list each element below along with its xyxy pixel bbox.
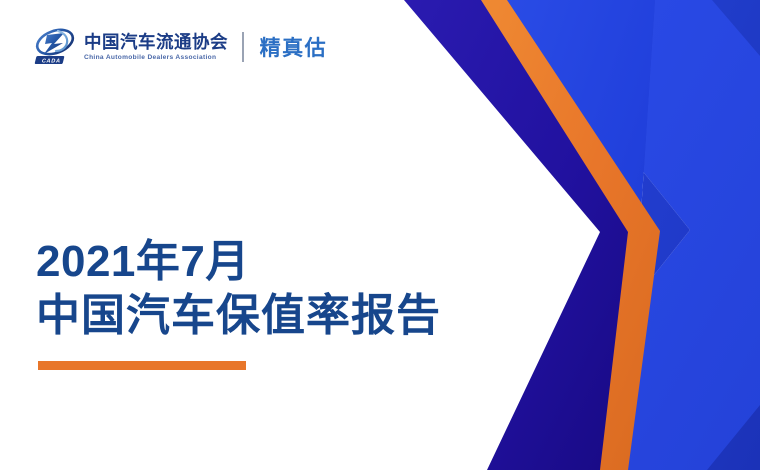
- band-blue-mid: [498, 0, 690, 470]
- svg-text:CADA: CADA: [41, 58, 61, 64]
- association-name-cn: 中国汽车流通协会: [84, 32, 228, 52]
- band-blue-outer: [498, 0, 760, 470]
- title-period: 2021年7月: [36, 236, 506, 287]
- title-report-name: 中国汽车保值率报告: [36, 289, 506, 343]
- band-navy: [404, 0, 628, 470]
- logo-lockup: CADA 中国汽车流通协会 China Automobile Dealers A…: [34, 24, 327, 70]
- band-blue-inner: [498, 0, 655, 470]
- association-name-en: China Automobile Dealers Association: [84, 54, 228, 62]
- cada-swoosh-logo-icon: CADA: [34, 26, 78, 68]
- band-blue-far: [540, 0, 760, 470]
- cover-title-block: 2021年7月 中国汽车保值率报告: [36, 236, 506, 370]
- report-cover-slide: CADA 中国汽车流通协会 China Automobile Dealers A…: [0, 0, 760, 470]
- title-underline-rule: [38, 361, 246, 370]
- lockup-divider: [242, 32, 244, 62]
- brand-name-jingzhengu: 精真估: [260, 32, 328, 62]
- association-name-block: 中国汽车流通协会 China Automobile Dealers Associ…: [84, 26, 228, 68]
- band-orange-stripe: [478, 0, 660, 470]
- chevron-artwork: [0, 0, 760, 470]
